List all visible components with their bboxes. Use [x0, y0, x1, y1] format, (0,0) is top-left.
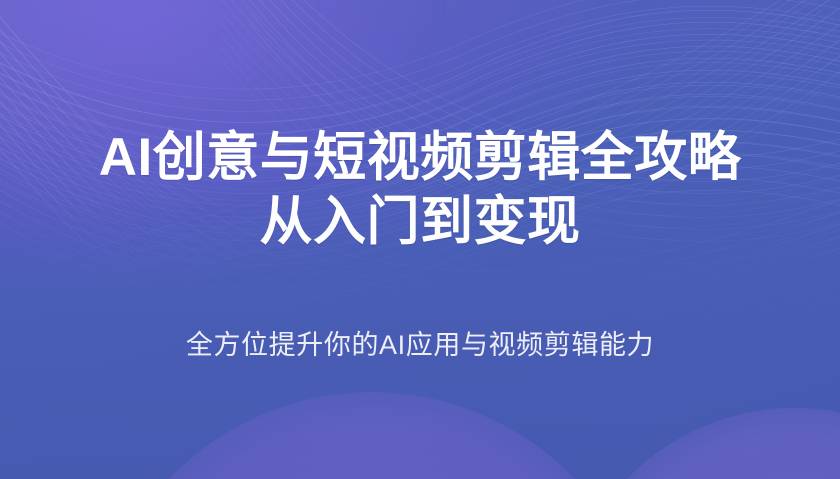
title-line-1: AI创意与短视频剪辑全攻略: [0, 126, 840, 190]
page-subtitle: 全方位提升你的AI应用与视频剪辑能力: [0, 326, 840, 364]
course-cover-banner: AI创意与短视频剪辑全攻略 从入门到变现 全方位提升你的AI应用与视频剪辑能力: [0, 0, 840, 479]
banner-content: AI创意与短视频剪辑全攻略 从入门到变现 全方位提升你的AI应用与视频剪辑能力: [0, 0, 840, 479]
title-line-2: 从入门到变现: [0, 190, 840, 254]
page-title: AI创意与短视频剪辑全攻略 从入门到变现: [0, 126, 840, 254]
